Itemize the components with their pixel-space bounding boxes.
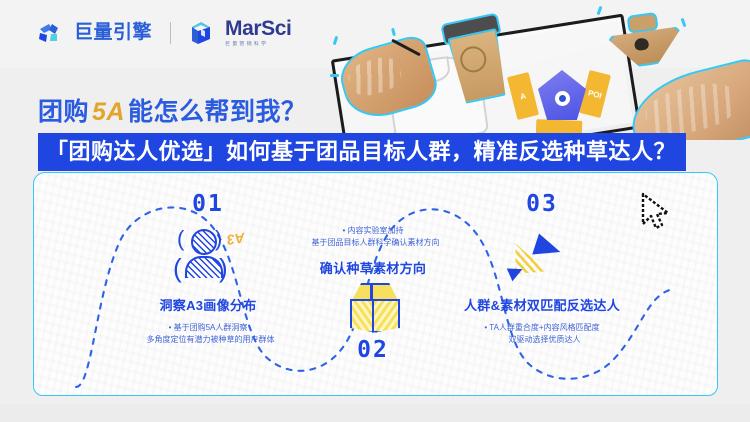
spark-line <box>597 6 603 15</box>
hero-collage: A POI <box>330 0 750 140</box>
subtitle-banner-text: 「团购达人优选」如何基于团品目标人群，精准反选种草达人？ <box>46 141 676 163</box>
step-01-number: 01 <box>92 191 324 217</box>
page-title: 团购5A能怎么帮到我？ <box>38 92 307 128</box>
spinning-top-image <box>603 9 684 71</box>
page-title-highlight: 5A <box>89 98 128 126</box>
marsci-logo-subtitle: 巨量营销科学 <box>225 42 291 47</box>
spark-line <box>391 28 396 36</box>
marsci-logo-text: MarSci <box>225 18 291 39</box>
box-seam <box>370 283 373 299</box>
step-03-description: TA人群重合度+内容风格匹配度 双驱动选择优质达人 <box>426 322 658 347</box>
bottom-strip <box>0 404 750 422</box>
spark-line <box>330 74 339 77</box>
plane-blue-shape <box>532 234 564 263</box>
juliang-logo-icon <box>36 20 62 46</box>
material-box-icon <box>346 281 400 335</box>
step-03-desc-line1: TA人群重合度+内容风格匹配度 <box>426 322 658 334</box>
step-03-number: 03 <box>426 191 658 217</box>
paren-right-top: ) <box>215 226 222 252</box>
paren-left-top: ( <box>177 226 184 252</box>
spark-line <box>681 18 687 27</box>
juliang-logo-text: 巨量引擎 <box>74 23 152 42</box>
person-body-shape <box>185 256 223 278</box>
step-03: 03 人群&素材双匹配反选达人 TA人群重合度+内容风格匹配度 双驱动选择优质达… <box>426 191 658 347</box>
content-card: 01 ( ) ( ) A3 洞察A3画像分布 基于团购5A人群洞察 多角度定位有… <box>33 172 718 396</box>
paren-left-bottom: ( <box>173 253 182 284</box>
a3-icon-label: A3 <box>226 230 246 248</box>
paren-right-bottom: ) <box>219 253 228 284</box>
subtitle-banner: 「团购达人优选」如何基于团品目标人群，精准反选种草达人？ <box>38 133 686 171</box>
box-right-face <box>372 299 400 333</box>
person-head-shape <box>191 229 217 255</box>
paper-plane-icon <box>507 231 577 285</box>
spark-line <box>333 36 339 45</box>
page-title-prefix: 团购 <box>38 98 89 126</box>
sticker-cluster: A POI <box>512 58 622 140</box>
hand-image-right <box>623 57 750 140</box>
marsci-logo-icon <box>189 20 213 46</box>
brand-logo-row: 巨量引擎 MarSci 巨量营销科学 <box>36 18 291 47</box>
slide-canvas: 巨量引擎 MarSci 巨量营销科学 <box>0 0 750 422</box>
page-title-suffix: 能怎么帮到我？ <box>128 98 307 126</box>
step-03-title: 人群&素材双匹配反选达人 <box>426 295 658 314</box>
sticker-tag-a: A <box>507 72 539 120</box>
mouse-cursor-icon <box>640 192 674 232</box>
step-03-desc-line2: 双驱动选择优质达人 <box>426 334 658 346</box>
logo-divider <box>170 22 171 44</box>
pentagon-eye-icon <box>555 91 570 106</box>
marsci-logo-block: MarSci 巨量营销科学 <box>225 18 291 47</box>
audience-portrait-icon: ( ) ( ) A3 <box>165 229 251 289</box>
